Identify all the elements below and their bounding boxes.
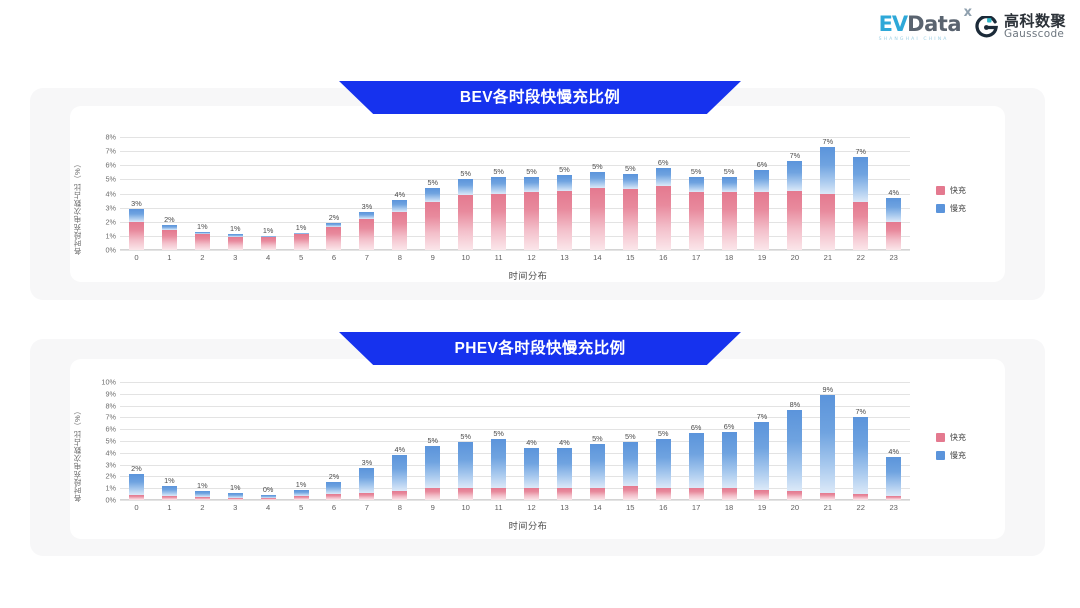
phev-bar-segment-fast[interactable] xyxy=(458,488,473,500)
phev-bar-stack[interactable] xyxy=(754,382,769,500)
bev-bar-slot[interactable]: 5% xyxy=(515,137,548,250)
bev-x-tick: 7 xyxy=(350,253,383,262)
bev-x-tick: 2 xyxy=(186,253,219,262)
bev-x-tick: 20 xyxy=(778,253,811,262)
bev-bar-segment-fast[interactable] xyxy=(294,234,309,250)
bev-bar-value-label: 7% xyxy=(790,151,801,160)
bev-bar-value-label: 5% xyxy=(559,165,570,174)
phev-x-tick: 17 xyxy=(680,503,713,512)
bev-bar-slot[interactable]: 5% xyxy=(614,137,647,250)
legend-item[interactable]: 快充 xyxy=(936,185,966,196)
bev-bar-segment-fast[interactable] xyxy=(754,192,769,250)
bev-x-tick: 16 xyxy=(647,253,680,262)
phev-bar-stack[interactable] xyxy=(261,382,276,500)
bev-x-axis-label: 时间分布 xyxy=(78,268,978,282)
phev-bar-slot[interactable]: 5% xyxy=(482,382,515,500)
bev-bar-value-label: 5% xyxy=(592,162,603,171)
bev-y-tick: 4% xyxy=(105,189,116,198)
bev-bar-value-label: 5% xyxy=(724,167,735,176)
phev-bar-segment-fast[interactable] xyxy=(326,494,341,500)
bev-x-tick: 5 xyxy=(285,253,318,262)
phev-bar-slot[interactable]: 2% xyxy=(120,382,153,500)
phev-bar-value-label: 4% xyxy=(559,438,570,447)
bev-bar-segment-slow[interactable] xyxy=(722,177,737,193)
phev-y-tick: 6% xyxy=(105,425,116,434)
phev-bar-slot[interactable]: 6% xyxy=(680,382,713,500)
bev-bar-group: 3%2%1%1%1%1%2%3%4%5%5%5%5%5%5%5%6%5%5%6%… xyxy=(120,137,910,250)
phev-bar-value-label: 7% xyxy=(757,412,768,421)
bev-bar-value-label: 7% xyxy=(855,147,866,156)
bev-bar-slot[interactable]: 6% xyxy=(746,137,779,250)
bev-x-tick: 21 xyxy=(811,253,844,262)
bev-bar-segment-fast[interactable] xyxy=(326,227,341,250)
phev-y-tick: 4% xyxy=(105,448,116,457)
phev-x-tick: 0 xyxy=(120,503,153,512)
phev-bar-segment-fast[interactable] xyxy=(557,488,572,500)
phev-bar-value-label: 1% xyxy=(197,481,208,490)
bev-bar-stack[interactable] xyxy=(557,137,572,250)
bev-x-tick: 13 xyxy=(548,253,581,262)
bev-bar-value-label: 7% xyxy=(823,137,834,146)
legend-item[interactable]: 快充 xyxy=(936,432,966,443)
bev-bar-stack[interactable] xyxy=(458,137,473,250)
bev-bar-segment-slow[interactable] xyxy=(458,179,473,195)
bev-bar-stack[interactable] xyxy=(294,137,309,250)
bev-y-axis-label: 各时段充电次数占比（%） xyxy=(74,135,88,255)
bev-bar-slot[interactable]: 5% xyxy=(581,137,614,250)
phev-bar-value-label: 8% xyxy=(790,400,801,409)
bev-bar-slot[interactable]: 3% xyxy=(120,137,153,250)
bev-y-tick: 3% xyxy=(105,203,116,212)
phev-bar-segment-slow[interactable] xyxy=(623,442,638,487)
phev-bar-segment-slow[interactable] xyxy=(524,448,539,488)
phev-bar-segment-fast[interactable] xyxy=(853,494,868,500)
phev-bar-segment-slow[interactable] xyxy=(162,486,177,497)
bev-bar-value-label: 1% xyxy=(263,226,274,235)
phev-bar-value-label: 4% xyxy=(526,438,537,447)
bev-bar-segment-slow[interactable] xyxy=(491,177,506,194)
bev-bar-segment-slow[interactable] xyxy=(623,174,638,190)
bev-bar-slot[interactable]: 5% xyxy=(713,137,746,250)
phev-y-axis-label: 各时段充电次数占比（%） xyxy=(74,380,88,502)
phev-x-tick: 6 xyxy=(318,503,351,512)
bev-bar-segment-fast[interactable] xyxy=(656,186,671,250)
phev-x-tick: 3 xyxy=(219,503,252,512)
legend-label-fast: 快充 xyxy=(950,432,966,443)
phev-bar-value-label: 5% xyxy=(625,432,636,441)
bev-bar-stack[interactable] xyxy=(425,137,440,250)
bev-bar-segment-fast[interactable] xyxy=(392,212,407,250)
phev-bar-segment-fast[interactable] xyxy=(162,496,177,500)
phev-x-tick: 16 xyxy=(647,503,680,512)
legend-swatch-slow-icon xyxy=(936,204,945,213)
bev-bar-slot[interactable]: 7% xyxy=(844,137,877,250)
phev-bar-segment-slow[interactable] xyxy=(359,468,374,493)
bev-bar-stack[interactable] xyxy=(820,137,835,250)
phev-bar-stack[interactable] xyxy=(326,382,341,500)
phev-bar-stack[interactable] xyxy=(656,382,671,500)
phev-x-tick: 20 xyxy=(778,503,811,512)
bev-bar-segment-slow[interactable] xyxy=(787,161,802,191)
phev-bar-stack[interactable] xyxy=(623,382,638,500)
bev-bar-stack[interactable] xyxy=(689,137,704,250)
phev-bar-segment-slow[interactable] xyxy=(557,448,572,488)
phev-bar-segment-slow[interactable] xyxy=(326,482,341,494)
bev-bar-value-label: 1% xyxy=(197,222,208,231)
phev-bar-value-label: 7% xyxy=(855,407,866,416)
bev-bar-value-label: 4% xyxy=(395,190,406,199)
gausscode-name-cn: 高科数聚 xyxy=(1004,14,1066,30)
bev-x-tick: 11 xyxy=(482,253,515,262)
bev-bar-slot[interactable]: 5% xyxy=(482,137,515,250)
phev-bar-value-label: 5% xyxy=(592,434,603,443)
bev-bar-segment-fast[interactable] xyxy=(557,191,572,250)
phev-bar-segment-slow[interactable] xyxy=(754,422,769,490)
bev-bar-slot[interactable]: 2% xyxy=(153,137,186,250)
bev-bar-segment-slow[interactable] xyxy=(359,212,374,219)
phev-bar-value-label: 2% xyxy=(131,464,142,473)
phev-bar-segment-fast[interactable] xyxy=(129,495,144,500)
bev-bar-segment-fast[interactable] xyxy=(886,222,901,250)
phev-bar-slot[interactable]: 5% xyxy=(449,382,482,500)
phev-bar-segment-fast[interactable] xyxy=(294,496,309,500)
phev-bar-stack[interactable] xyxy=(359,382,374,500)
phev-bar-slot[interactable]: 1% xyxy=(285,382,318,500)
slide-page: EVData x SHANGHAI CHINA 高科数聚 Gausscode B… xyxy=(0,0,1080,608)
bev-y-tick: 7% xyxy=(105,147,116,156)
phev-bar-segment-slow[interactable] xyxy=(722,432,737,489)
phev-bar-stack[interactable] xyxy=(820,382,835,500)
bev-bar-segment-fast[interactable] xyxy=(722,192,737,250)
bev-bar-segment-fast[interactable] xyxy=(162,230,177,250)
phev-bar-segment-fast[interactable] xyxy=(524,488,539,500)
phev-bar-segment-slow[interactable] xyxy=(853,417,868,494)
phev-y-tick: 10% xyxy=(101,378,116,387)
bev-bar-slot[interactable]: 7% xyxy=(811,137,844,250)
phev-bar-segment-fast[interactable] xyxy=(754,490,769,500)
phev-bar-segment-slow[interactable] xyxy=(129,474,144,495)
phev-bar-slot[interactable]: 4% xyxy=(515,382,548,500)
phev-bar-segment-fast[interactable] xyxy=(623,486,638,500)
phev-legend: 快充 慢充 xyxy=(936,432,966,461)
phev-bar-slot[interactable]: 4% xyxy=(877,382,910,500)
phev-x-tick: 11 xyxy=(482,503,515,512)
phev-bar-slot[interactable]: 5% xyxy=(581,382,614,500)
phev-y-tick: 5% xyxy=(105,437,116,446)
bev-bar-segment-fast[interactable] xyxy=(787,191,802,250)
bev-title-text: BEV各时段快慢充比例 xyxy=(460,81,620,114)
bev-bar-slot[interactable]: 7% xyxy=(778,137,811,250)
phev-bar-slot[interactable]: 0% xyxy=(252,382,285,500)
bev-bar-stack[interactable] xyxy=(228,137,243,250)
phev-bar-value-label: 0% xyxy=(263,485,274,494)
gausscode-mark-icon xyxy=(975,16,998,39)
bev-x-tick: 23 xyxy=(877,253,910,262)
phev-x-tick: 21 xyxy=(811,503,844,512)
phev-bar-value-label: 5% xyxy=(493,429,504,438)
bev-y-tick: 6% xyxy=(105,161,116,170)
bev-bar-segment-fast[interactable] xyxy=(590,188,605,250)
phev-bar-slot[interactable]: 5% xyxy=(416,382,449,500)
bev-bar-value-label: 5% xyxy=(625,164,636,173)
bev-x-tick: 15 xyxy=(614,253,647,262)
phev-bar-value-label: 4% xyxy=(888,447,899,456)
bev-bar-segment-fast[interactable] xyxy=(491,194,506,251)
bev-bar-stack[interactable] xyxy=(359,137,374,250)
phev-bar-segment-slow[interactable] xyxy=(689,433,704,488)
phev-x-axis-label: 时间分布 xyxy=(78,518,978,532)
phev-bar-slot[interactable]: 3% xyxy=(350,382,383,500)
phev-bar-value-label: 5% xyxy=(460,432,471,441)
legend-swatch-fast-icon xyxy=(936,186,945,195)
phev-x-tick: 8 xyxy=(383,503,416,512)
phev-bar-slot[interactable]: 5% xyxy=(614,382,647,500)
bev-bar-segment-slow[interactable] xyxy=(754,170,769,193)
phev-bar-value-label: 1% xyxy=(230,483,241,492)
bev-bar-segment-slow[interactable] xyxy=(590,172,605,188)
bev-bar-segment-fast[interactable] xyxy=(129,222,144,250)
bev-y-tick: 2% xyxy=(105,217,116,226)
bev-bar-stack[interactable] xyxy=(195,137,210,250)
bev-bar-segment-slow[interactable] xyxy=(392,200,407,212)
legend-swatch-fast-icon xyxy=(936,433,945,442)
phev-bar-segment-slow[interactable] xyxy=(656,439,671,489)
phev-x-tick-row: 01234567891011121314151617181920212223 xyxy=(120,503,910,512)
bev-bar-stack[interactable] xyxy=(623,137,638,250)
bev-bar-segment-slow[interactable] xyxy=(524,177,539,193)
bev-x-tick: 0 xyxy=(120,253,153,262)
phev-bar-slot[interactable]: 4% xyxy=(548,382,581,500)
bev-x-tick: 8 xyxy=(383,253,416,262)
bev-bar-value-label: 1% xyxy=(230,224,241,233)
bev-chart: 各时段充电次数占比（%） 0%1%2%3%4%5%6%7%8%3%2%1%1%1… xyxy=(78,133,978,293)
phev-bar-segment-fast[interactable] xyxy=(590,488,605,500)
phev-bar-slot[interactable]: 1% xyxy=(219,382,252,500)
phev-bar-slot[interactable]: 1% xyxy=(153,382,186,500)
bev-bar-segment-fast[interactable] xyxy=(261,237,276,250)
bev-bar-slot[interactable]: 5% xyxy=(680,137,713,250)
evdata-logo-tagline: SHANGHAI CHINA xyxy=(879,37,949,42)
legend-item[interactable]: 慢充 xyxy=(936,450,966,461)
evdata-logo-superscript: x xyxy=(964,5,972,20)
phev-x-tick: 9 xyxy=(416,503,449,512)
phev-plot-area: 0%1%2%3%4%5%6%7%8%9%10%2%1%1%1%0%1%2%3%4… xyxy=(120,382,910,500)
phev-x-tick: 4 xyxy=(252,503,285,512)
bev-x-tick: 18 xyxy=(713,253,746,262)
phev-bar-slot[interactable]: 2% xyxy=(318,382,351,500)
bev-x-tick: 22 xyxy=(844,253,877,262)
phev-bar-slot[interactable]: 7% xyxy=(746,382,779,500)
bev-bar-segment-slow[interactable] xyxy=(853,157,868,202)
phev-bar-segment-fast[interactable] xyxy=(228,498,243,500)
phev-bar-segment-fast[interactable] xyxy=(261,498,276,500)
phev-bar-stack[interactable] xyxy=(392,382,407,500)
bev-bar-value-label: 3% xyxy=(362,202,373,211)
phev-y-tick: 0% xyxy=(105,496,116,505)
phev-bar-segment-slow[interactable] xyxy=(425,446,440,488)
phev-bar-segment-fast[interactable] xyxy=(787,491,802,500)
phev-bar-segment-fast[interactable] xyxy=(195,497,210,500)
phev-x-tick: 19 xyxy=(746,503,779,512)
phev-bar-value-label: 2% xyxy=(329,472,340,481)
bev-y-tick: 5% xyxy=(105,175,116,184)
bev-bar-stack[interactable] xyxy=(326,137,341,250)
bev-x-tick: 10 xyxy=(449,253,482,262)
phev-bar-group: 2%1%1%1%0%1%2%3%4%5%5%5%4%4%5%5%5%6%6%7%… xyxy=(120,382,910,500)
bev-bar-segment-fast[interactable] xyxy=(524,192,539,250)
bev-bar-slot[interactable]: 2% xyxy=(318,137,351,250)
bev-bar-slot[interactable]: 5% xyxy=(548,137,581,250)
evdata-logo: EVData x SHANGHAI CHINA xyxy=(879,12,961,42)
bev-x-tick: 9 xyxy=(416,253,449,262)
phev-bar-stack[interactable] xyxy=(853,382,868,500)
bev-bar-value-label: 4% xyxy=(888,188,899,197)
bev-bar-stack[interactable] xyxy=(129,137,144,250)
bev-bar-segment-slow[interactable] xyxy=(129,209,144,222)
phev-bar-segment-fast[interactable] xyxy=(392,491,407,500)
bev-bar-value-label: 6% xyxy=(658,158,669,167)
bev-bar-slot[interactable]: 1% xyxy=(219,137,252,250)
legend-swatch-slow-icon xyxy=(936,451,945,460)
bev-bar-segment-fast[interactable] xyxy=(425,202,440,250)
phev-bar-value-label: 9% xyxy=(823,385,834,394)
bev-bar-slot[interactable]: 1% xyxy=(285,137,318,250)
phev-x-tick: 13 xyxy=(548,503,581,512)
bev-bar-value-label: 5% xyxy=(427,178,438,187)
bev-x-tick: 1 xyxy=(153,253,186,262)
gausscode-name-en: Gausscode xyxy=(1004,29,1066,40)
phev-x-tick: 23 xyxy=(877,503,910,512)
phev-bar-segment-slow[interactable] xyxy=(458,442,473,488)
bev-bar-stack[interactable] xyxy=(491,137,506,250)
phev-y-tick: 2% xyxy=(105,472,116,481)
bev-x-tick: 4 xyxy=(252,253,285,262)
bev-bar-segment-fast[interactable] xyxy=(359,219,374,250)
evdata-wordmark: EVData x xyxy=(879,12,961,36)
phev-x-tick: 12 xyxy=(515,503,548,512)
phev-bar-slot[interactable]: 7% xyxy=(844,382,877,500)
bev-y-tick: 1% xyxy=(105,231,116,240)
phev-bar-slot[interactable]: 4% xyxy=(383,382,416,500)
bev-bar-segment-slow[interactable] xyxy=(820,147,835,194)
bev-bar-segment-fast[interactable] xyxy=(195,234,210,250)
phev-bar-segment-fast[interactable] xyxy=(656,488,671,500)
bev-x-tick: 17 xyxy=(680,253,713,262)
bev-bar-slot[interactable]: 4% xyxy=(877,137,910,250)
phev-bar-segment-fast[interactable] xyxy=(820,493,835,500)
bev-bar-value-label: 2% xyxy=(329,213,340,222)
phev-bar-slot[interactable]: 8% xyxy=(778,382,811,500)
phev-gridline xyxy=(120,500,910,501)
bev-bar-value-label: 1% xyxy=(296,223,307,232)
bev-bar-segment-slow[interactable] xyxy=(689,177,704,193)
bev-bar-segment-slow[interactable] xyxy=(425,188,440,202)
phev-x-tick: 2 xyxy=(186,503,219,512)
bev-bar-segment-fast[interactable] xyxy=(228,237,243,250)
bev-bar-stack[interactable] xyxy=(590,137,605,250)
bev-bar-stack[interactable] xyxy=(656,137,671,250)
bev-bar-segment-fast[interactable] xyxy=(853,202,868,250)
gausscode-logo: 高科数聚 Gausscode xyxy=(975,14,1066,41)
bev-bar-slot[interactable]: 1% xyxy=(252,137,285,250)
bev-bar-value-label: 5% xyxy=(460,169,471,178)
phev-title-text: PHEV各时段快慢充比例 xyxy=(454,332,625,365)
phev-bar-stack[interactable] xyxy=(722,382,737,500)
bev-bar-segment-fast[interactable] xyxy=(458,195,473,250)
phev-bar-value-label: 5% xyxy=(427,436,438,445)
bev-bar-stack[interactable] xyxy=(722,137,737,250)
bev-y-tick: 8% xyxy=(105,133,116,142)
bev-bar-segment-fast[interactable] xyxy=(623,189,638,250)
bev-bar-value-label: 6% xyxy=(757,160,768,169)
phev-x-tick: 22 xyxy=(844,503,877,512)
phev-bar-segment-fast[interactable] xyxy=(722,488,737,500)
bev-bar-slot[interactable]: 3% xyxy=(350,137,383,250)
bev-bar-stack[interactable] xyxy=(524,137,539,250)
phev-chart: 各时段充电次数占比（%） 0%1%2%3%4%5%6%7%8%9%10%2%1%… xyxy=(78,378,978,543)
phev-bar-segment-slow[interactable] xyxy=(787,410,802,490)
bev-bar-segment-fast[interactable] xyxy=(820,194,835,251)
phev-bar-value-label: 1% xyxy=(296,480,307,489)
phev-bar-value-label: 1% xyxy=(164,476,175,485)
phev-bar-segment-fast[interactable] xyxy=(359,493,374,500)
phev-bar-segment-slow[interactable] xyxy=(392,455,407,490)
evdata-logo-data: Data xyxy=(907,12,961,36)
bev-bar-stack[interactable] xyxy=(162,137,177,250)
bev-bar-slot[interactable]: 5% xyxy=(449,137,482,250)
bev-bar-slot[interactable]: 1% xyxy=(186,137,219,250)
phev-bar-segment-slow[interactable] xyxy=(590,444,605,488)
phev-bar-slot[interactable]: 9% xyxy=(811,382,844,500)
bev-x-tick: 12 xyxy=(515,253,548,262)
bev-x-tick: 14 xyxy=(581,253,614,262)
phev-bar-segment-slow[interactable] xyxy=(886,457,901,496)
bev-bar-segment-slow[interactable] xyxy=(557,175,572,191)
phev-bar-slot[interactable]: 6% xyxy=(713,382,746,500)
bev-bar-segment-slow[interactable] xyxy=(656,168,671,186)
bev-bar-slot[interactable]: 5% xyxy=(416,137,449,250)
phev-bar-segment-slow[interactable] xyxy=(820,395,835,493)
bev-bar-slot[interactable]: 6% xyxy=(647,137,680,250)
phev-y-tick: 7% xyxy=(105,413,116,422)
phev-bar-stack[interactable] xyxy=(689,382,704,500)
bev-bar-value-label: 5% xyxy=(526,167,537,176)
bev-x-tick-row: 01234567891011121314151617181920212223 xyxy=(120,253,910,262)
phev-x-tick: 7 xyxy=(350,503,383,512)
bev-bar-stack[interactable] xyxy=(754,137,769,250)
phev-bar-segment-fast[interactable] xyxy=(689,488,704,500)
legend-item[interactable]: 慢充 xyxy=(936,203,966,214)
bev-bar-segment-fast[interactable] xyxy=(689,192,704,250)
phev-bar-stack[interactable] xyxy=(491,382,506,500)
phev-bar-slot[interactable]: 5% xyxy=(647,382,680,500)
phev-bar-value-label: 6% xyxy=(691,423,702,432)
phev-bar-stack[interactable] xyxy=(129,382,144,500)
bev-bar-segment-slow[interactable] xyxy=(886,198,901,222)
phev-bar-slot[interactable]: 1% xyxy=(186,382,219,500)
phev-bar-segment-slow[interactable] xyxy=(491,439,506,487)
phev-bar-segment-fast[interactable] xyxy=(425,488,440,500)
phev-bar-stack[interactable] xyxy=(886,382,901,500)
bev-x-tick: 19 xyxy=(746,253,779,262)
bev-legend: 快充 慢充 xyxy=(936,185,966,214)
legend-label-slow: 慢充 xyxy=(950,203,966,214)
bev-bar-slot[interactable]: 4% xyxy=(383,137,416,250)
phev-bar-segment-fast[interactable] xyxy=(491,488,506,500)
phev-y-tick: 9% xyxy=(105,389,116,398)
legend-label-fast: 快充 xyxy=(950,185,966,196)
phev-bar-segment-fast[interactable] xyxy=(886,496,901,500)
